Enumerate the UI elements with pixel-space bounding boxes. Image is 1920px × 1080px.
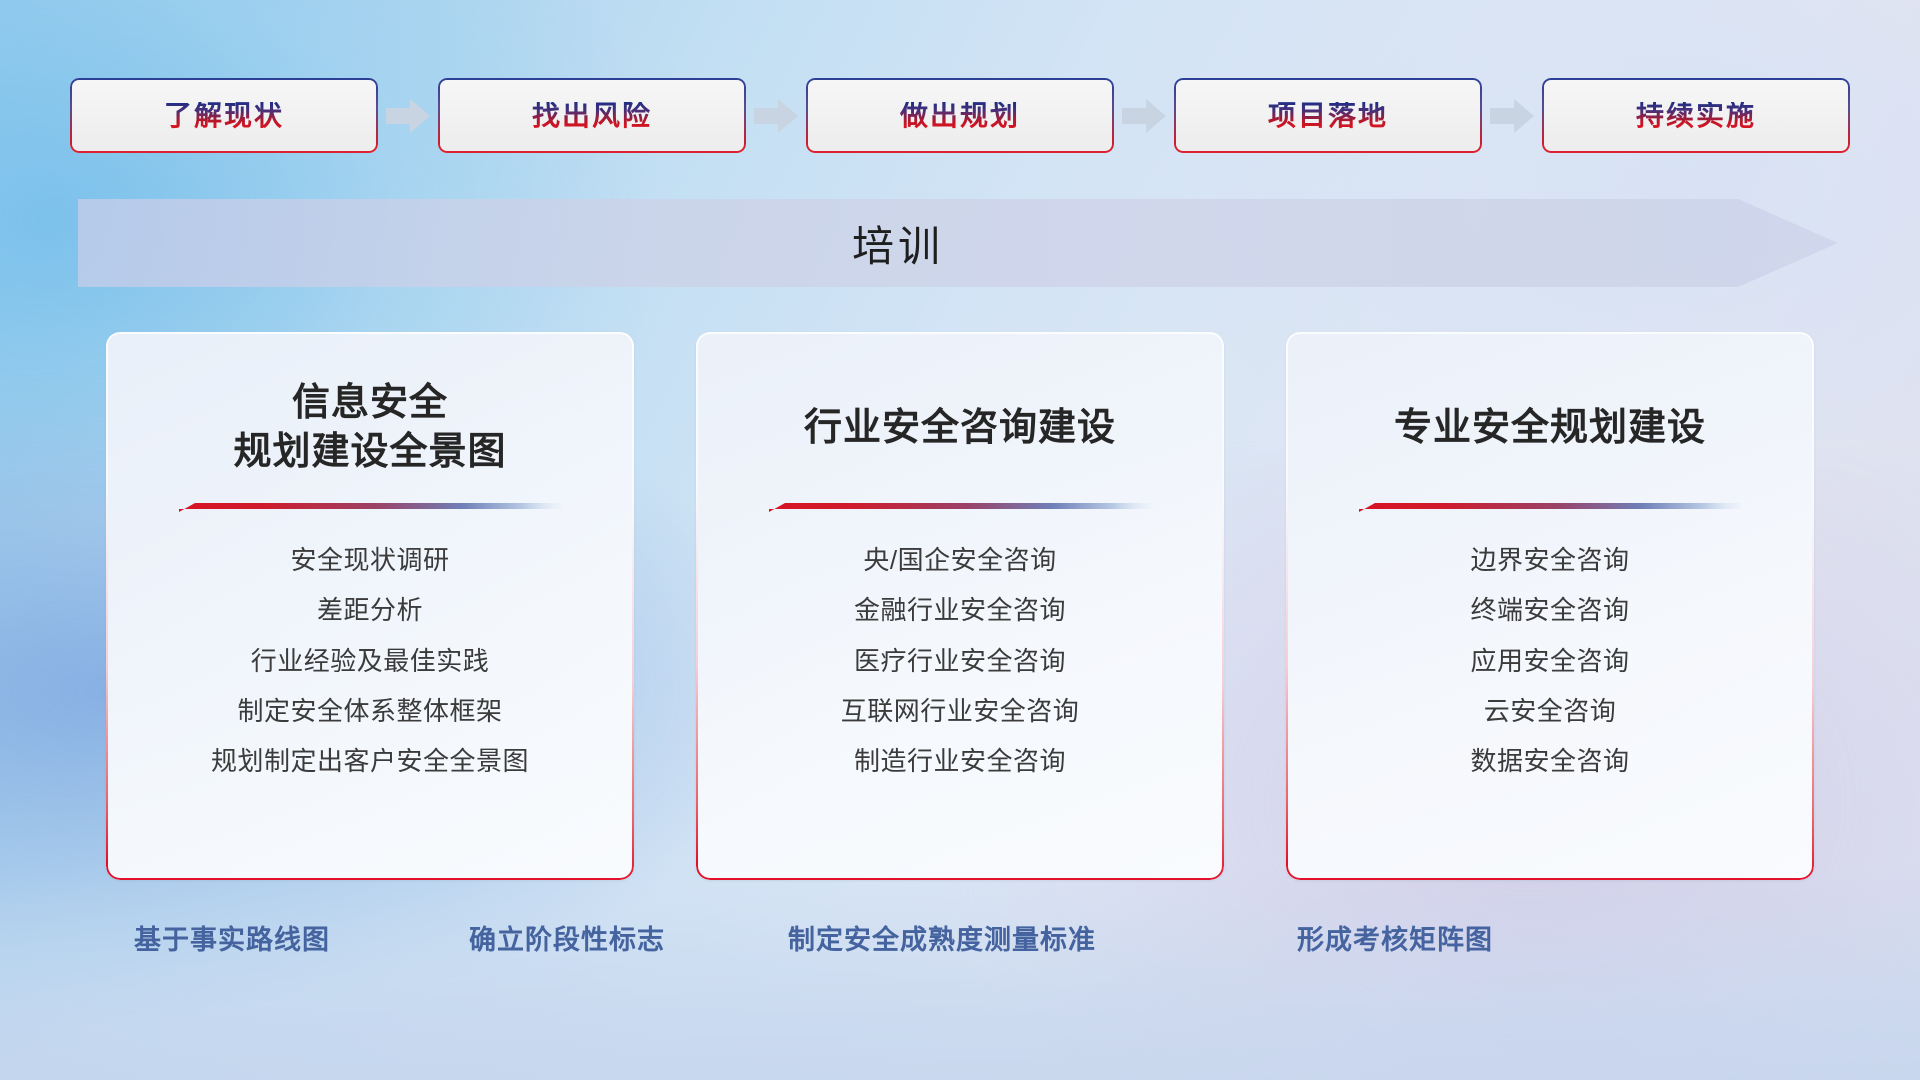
arrow-right-icon-2 (746, 97, 806, 135)
step-box-5-inner: 持续实施 (1544, 80, 1848, 151)
card-2-inner: 行业安全咨询建设 (696, 332, 1224, 880)
list-item: 行业经验及最佳实践 (251, 641, 490, 681)
card-2-list: 央/国企安全咨询 金融行业安全咨询 医疗行业安全咨询 互联网行业安全咨询 制造行… (841, 540, 1080, 781)
card-2-title: 行业安全咨询建设 (804, 378, 1116, 478)
step-box-1-inner: 了解现状 (72, 80, 376, 151)
card-1-divider (179, 500, 561, 516)
caption-row: 基于事实路线图 确立阶段性标志 制定安全成熟度测量标准 形成考核矩阵图 (0, 918, 1920, 988)
card-3-divider (1359, 500, 1741, 516)
step-label-4: 项目落地 (1268, 102, 1388, 130)
card-3-title: 专业安全规划建设 (1394, 378, 1706, 478)
step-box-2[interactable]: 找出风险 (438, 78, 746, 153)
step-box-1[interactable]: 了解现状 (70, 78, 378, 153)
arrow-right-icon-4 (1482, 97, 1542, 135)
caption-2: 确立阶段性标志 (469, 918, 665, 957)
caption-4: 形成考核矩阵图 (1297, 918, 1493, 957)
list-item: 制定安全体系整体框架 (237, 691, 502, 731)
banner-title: 培训 (78, 199, 1838, 287)
list-item: 央/国企安全咨询 (863, 540, 1056, 580)
list-item: 应用安全咨询 (1470, 641, 1629, 681)
step-label-1: 了解现状 (164, 102, 284, 130)
step-label-2: 找出风险 (532, 102, 652, 130)
card-1-title: 信息安全 规划建设全景图 (233, 378, 506, 478)
card-1-title-line1: 信息安全 (233, 379, 506, 428)
card-3-list: 边界安全咨询 终端安全咨询 应用安全咨询 云安全咨询 数据安全咨询 (1470, 540, 1629, 781)
card-1-inner: 信息安全 规划建设全景图 (106, 332, 634, 880)
process-step-row: 了解现状 找出风险 做出规划 项目落地 (0, 78, 1920, 153)
list-item: 规划制定出客户安全全景图 (211, 741, 529, 781)
list-item: 互联网行业安全咨询 (841, 691, 1080, 731)
caption-1: 基于事实路线图 (134, 918, 330, 957)
card-3[interactable]: 专业安全规划建设 (1286, 332, 1814, 880)
list-item: 边界安全咨询 (1470, 540, 1629, 580)
arrow-right-icon-1 (378, 97, 438, 135)
list-item: 云安全咨询 (1484, 691, 1617, 731)
step-box-3[interactable]: 做出规划 (806, 78, 1114, 153)
step-box-4-inner: 项目落地 (1176, 80, 1480, 151)
caption-3: 制定安全成熟度测量标准 (788, 918, 1096, 957)
list-item: 金融行业安全咨询 (854, 590, 1066, 630)
step-box-3-inner: 做出规划 (808, 80, 1112, 151)
card-1[interactable]: 信息安全 规划建设全景图 (106, 332, 634, 880)
list-item: 终端安全咨询 (1470, 590, 1629, 630)
list-item: 差距分析 (317, 590, 423, 630)
list-item: 数据安全咨询 (1470, 741, 1629, 781)
card-3-title-line1: 专业安全规划建设 (1394, 404, 1706, 453)
step-label-5: 持续实施 (1636, 102, 1756, 130)
list-item: 制造行业安全咨询 (854, 741, 1066, 781)
arrow-right-icon-3 (1114, 97, 1174, 135)
card-2[interactable]: 行业安全咨询建设 (696, 332, 1224, 880)
step-box-4[interactable]: 项目落地 (1174, 78, 1482, 153)
training-banner: 培训 (78, 199, 1838, 287)
card-3-inner: 专业安全规划建设 (1286, 332, 1814, 880)
list-item: 安全现状调研 (290, 540, 449, 580)
card-1-title-line2: 规划建设全景图 (233, 428, 506, 477)
card-1-list: 安全现状调研 差距分析 行业经验及最佳实践 制定安全体系整体框架 规划制定出客户… (211, 540, 529, 781)
step-box-5[interactable]: 持续实施 (1542, 78, 1850, 153)
list-item: 医疗行业安全咨询 (854, 641, 1066, 681)
cards-row: 信息安全 规划建设全景图 (0, 332, 1920, 892)
step-box-2-inner: 找出风险 (440, 80, 744, 151)
card-2-title-line1: 行业安全咨询建设 (804, 404, 1116, 453)
step-label-3: 做出规划 (900, 102, 1020, 130)
card-2-divider (769, 500, 1151, 516)
